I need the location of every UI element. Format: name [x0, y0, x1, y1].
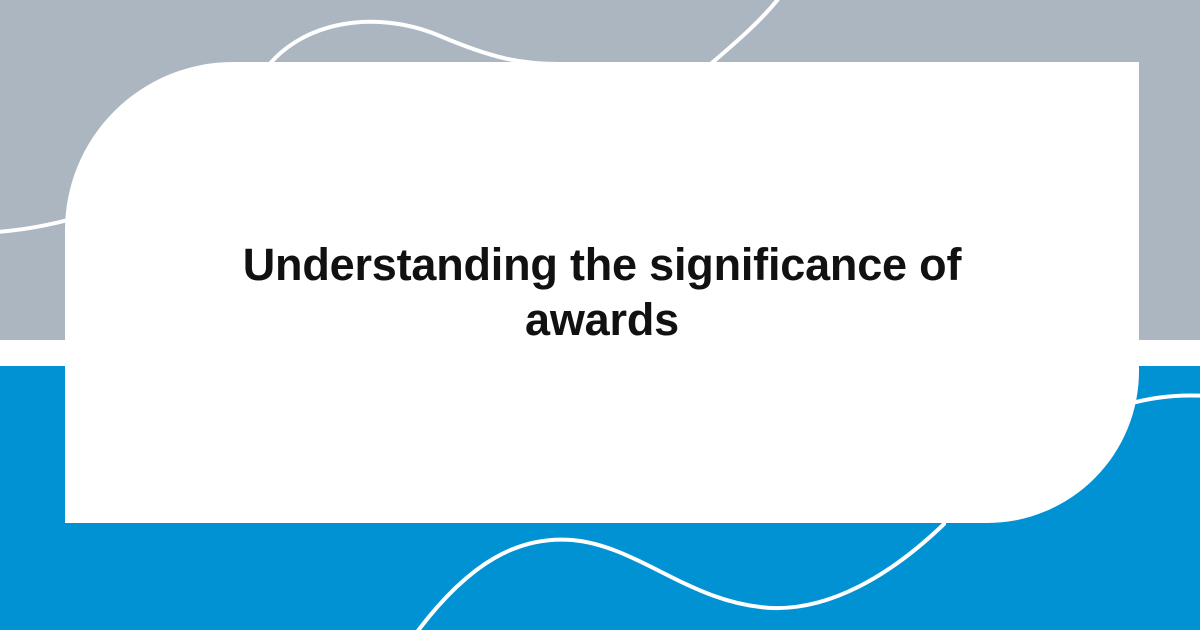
- social-share-banner: Understanding the significance of awards: [0, 0, 1200, 630]
- headline-container: Understanding the significance of awards: [65, 62, 1139, 523]
- page-title: Understanding the significance of awards: [222, 238, 982, 348]
